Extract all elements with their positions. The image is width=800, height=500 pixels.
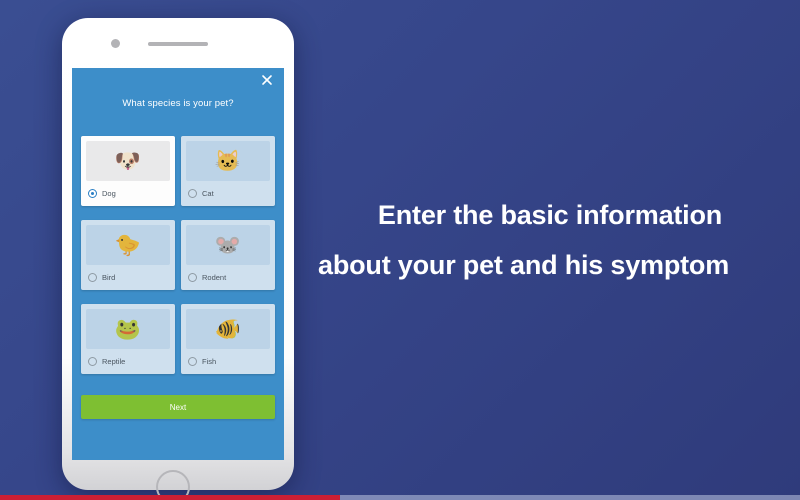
- radio-reptile[interactable]: [88, 357, 97, 366]
- caption-line-2: about your pet and his symptom: [318, 240, 800, 290]
- app-screen: What species is your pet? 🐶 Dog 🐱: [72, 68, 284, 460]
- species-label-row: Rodent: [181, 265, 275, 290]
- species-card-rodent[interactable]: 🐭 Rodent: [181, 220, 275, 290]
- video-frame: What species is your pet? 🐶 Dog 🐱: [0, 0, 800, 500]
- species-label-rodent: Rodent: [202, 273, 226, 282]
- close-x-icon[interactable]: [260, 73, 274, 87]
- phone-top-bezel: [62, 18, 294, 68]
- species-thumb: 🐱: [186, 141, 270, 181]
- speaker-grille-icon: [148, 42, 208, 46]
- species-card-reptile[interactable]: 🐸 Reptile: [81, 304, 175, 374]
- caption-line-1: Enter the basic information: [318, 190, 782, 240]
- video-progress-bar[interactable]: [0, 495, 800, 500]
- species-label-row: Dog: [81, 181, 175, 206]
- radio-dog[interactable]: [88, 189, 97, 198]
- species-card-cat[interactable]: 🐱 Cat: [181, 136, 275, 206]
- species-card-dog[interactable]: 🐶 Dog: [81, 136, 175, 206]
- species-thumb: 🐤: [86, 225, 170, 265]
- phone-mockup: What species is your pet? 🐶 Dog 🐱: [62, 18, 294, 490]
- species-label-dog: Dog: [102, 189, 116, 198]
- species-label-row: Reptile: [81, 349, 175, 374]
- cat-face-icon: 🐱: [215, 151, 241, 172]
- dog-face-icon: 🐶: [115, 151, 141, 172]
- species-label-reptile: Reptile: [102, 357, 125, 366]
- species-thumb: 🐶: [86, 141, 170, 181]
- radio-cat[interactable]: [188, 189, 197, 198]
- dialog-header: What species is your pet?: [72, 68, 284, 120]
- species-label-row: Cat: [181, 181, 275, 206]
- dialog-title: What species is your pet?: [72, 98, 284, 109]
- species-thumb: 🐸: [86, 309, 170, 349]
- radio-bird[interactable]: [88, 273, 97, 282]
- radio-fish[interactable]: [188, 357, 197, 366]
- mouse-face-icon: 🐭: [215, 235, 241, 256]
- species-card-fish[interactable]: 🐠 Fish: [181, 304, 275, 374]
- video-progress-fill: [0, 495, 340, 500]
- next-button[interactable]: Next: [81, 395, 275, 419]
- species-label-cat: Cat: [202, 189, 214, 198]
- species-option-grid: 🐶 Dog 🐱 Cat: [81, 136, 275, 374]
- species-label-row: Fish: [181, 349, 275, 374]
- caption-text: Enter the basic information about your p…: [318, 190, 800, 290]
- species-label-row: Bird: [81, 265, 175, 290]
- species-thumb: 🐠: [186, 309, 270, 349]
- fish-icon: 🐠: [215, 319, 241, 340]
- bird-chick-icon: 🐤: [115, 235, 141, 256]
- reptile-face-icon: 🐸: [115, 319, 141, 340]
- species-label-bird: Bird: [102, 273, 115, 282]
- species-label-fish: Fish: [202, 357, 216, 366]
- species-card-bird[interactable]: 🐤 Bird: [81, 220, 175, 290]
- camera-dot-icon: [111, 39, 120, 48]
- radio-rodent[interactable]: [188, 273, 197, 282]
- species-thumb: 🐭: [186, 225, 270, 265]
